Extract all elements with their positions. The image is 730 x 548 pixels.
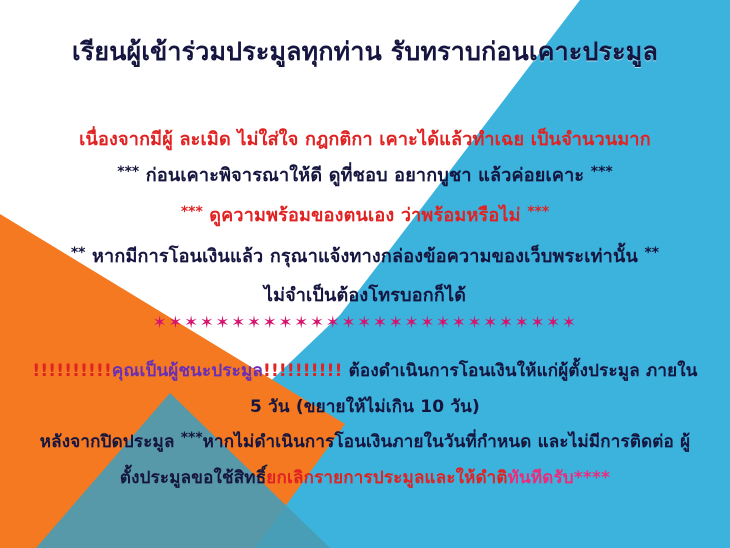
notice-line-3: *** ดูความพร้อมของตนเอง ว่าพร้อมหรือไม่ …	[0, 200, 730, 229]
winner-highlight: คุณเป็นผู้ชนะประมูล	[112, 361, 263, 381]
penalty-line-2-a: ตั้งประมูลขอใช้สิทธิ์	[120, 468, 266, 488]
notice-line-1: เนื่องจากมีผู้ ละเมิด ไม่ใส่ใจ กฎกติกา เ…	[0, 124, 730, 153]
notice-line-4: ** หากมีการโอนเงินแล้ว กรุณาแจ้งทางกล่อง…	[0, 241, 730, 270]
stars-left-2: ***	[117, 164, 139, 180]
poster-title: เรียนผู้เข้าร่วมประมูลทุกท่าน รับทราบก่อ…	[0, 32, 730, 72]
penalty-line-2: ตั้งประมูลขอใช้สิทธิ์ยกเลิกรายการประมูลแ…	[0, 464, 730, 491]
stars-penalty: ***	[181, 430, 203, 446]
penalty-line-1: หลังจากปิดประมูล ***หากไม่ดำเนินการโอนเง…	[0, 428, 730, 455]
stars-right-3: ***	[527, 204, 549, 220]
bangs-right: !!!!!!!!!!	[263, 361, 343, 381]
notice-line-5: ไม่จำเป็นต้องโทรบอกก็ได้	[0, 280, 730, 309]
notice-line-2: *** ก่อนเคาะพิจารณาให้ดี ดูที่ชอบ อยากบู…	[0, 160, 730, 189]
stars-right-2: ***	[591, 164, 613, 180]
decorative-separator: ✶✶✶✶✶✶✶✶✶✶✶✶✶✶✶✶✶✶✶✶✶✶✶✶✶✶✶	[0, 313, 730, 333]
stars-left-3: ***	[181, 204, 203, 220]
penalty-line-1-a: หลังจากปิดประมูล	[40, 432, 181, 452]
bangs-left: !!!!!!!!!!	[32, 361, 112, 381]
penalty-line-1-b: หากไม่ดำเนินการโอนเงินภายในวันที่กำหนด แ…	[203, 432, 691, 452]
notice-line-2-text: ก่อนเคาะพิจารณาให้ดี ดูที่ชอบ อยากบูชา แ…	[146, 165, 585, 186]
promotion-poster: เรียนผู้เข้าร่วมประมูลทุกท่าน รับทราบก่อ…	[0, 0, 730, 548]
stars-left-4: **	[71, 245, 86, 261]
cancel-highlight: ยกเลิกรายการประมูลและให้ดำติ	[266, 468, 507, 488]
winner-notice-line: !!!!!!!!!!คุณเป็นผู้ชนะประมูล!!!!!!!!!! …	[0, 357, 730, 384]
stars-right-4: **	[644, 245, 659, 261]
winner-notice-rest: ต้องดำเนินการโอนเงินให้แก่ผู้ตั้งประมูล …	[343, 361, 698, 381]
notice-line-3-text: ดูความพร้อมของตนเอง ว่าพร้อมหรือไม่	[209, 205, 520, 226]
immediate-highlight: ทันทีดรับ****	[508, 468, 611, 488]
notice-line-4-text: หากมีการโอนเงินแล้ว กรุณาแจ้งทางกล่องข้อ…	[92, 246, 638, 267]
payment-deadline-line: 5 วัน (ขยายให้ไม่เกิน 10 วัน)	[0, 393, 730, 420]
poster-text-layer: เรียนผู้เข้าร่วมประมูลทุกท่าน รับทราบก่อ…	[0, 0, 730, 548]
